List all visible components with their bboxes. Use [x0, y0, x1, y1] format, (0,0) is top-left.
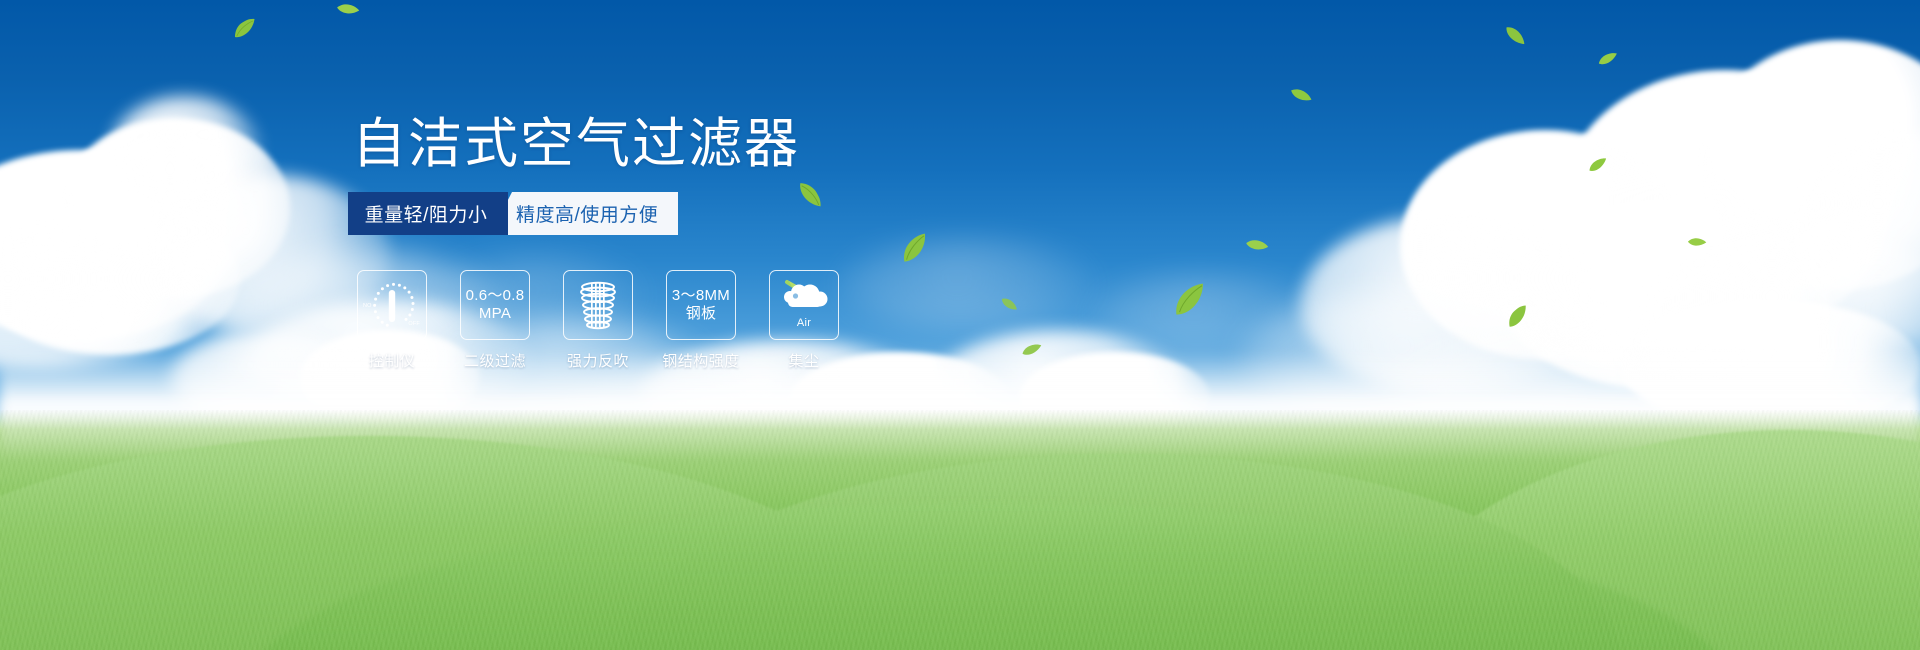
feature-label: 强力反吹: [567, 350, 629, 371]
feature-icon-box: Air: [769, 270, 839, 340]
dial-on-label: NO: [363, 303, 372, 309]
feature-label: 钢结构强度: [662, 350, 740, 371]
dial-off-label: OFF: [408, 321, 420, 327]
feature-icon-box: NO OFF: [357, 270, 427, 340]
feature-icon-box: 0.6～0.8 MPA: [460, 270, 530, 340]
feature-item-strong-backblow: 强力反吹: [562, 270, 634, 371]
feature-label: 控制仪: [369, 350, 416, 371]
feature-label: 二级过滤: [464, 350, 526, 371]
steel-thickness: 3～8MM: [672, 287, 730, 305]
feature-icon-box: [563, 270, 633, 340]
feature-item-steel-strength: 3～8MM 钢板 钢结构强度: [665, 270, 737, 371]
steel-plate-text: 钢板: [686, 305, 717, 323]
feature-list: NO OFF 控制仪 0.6～0.8 MPA 二级过滤: [356, 270, 840, 371]
control-dial-icon: NO OFF: [362, 276, 422, 334]
product-banner: 自洁式空气过滤器 重量轻/阻力小 精度高/使用方便: [0, 0, 1920, 650]
feature-item-dust-collection: Air 集尘: [768, 270, 840, 371]
pressure-unit: MPA: [479, 305, 511, 323]
air-label: Air: [797, 314, 811, 332]
feature-item-control-instrument: NO OFF 控制仪: [356, 270, 428, 371]
tag-lightweight-low-resistance: 重量轻/阻力小: [348, 192, 508, 235]
feature-item-secondary-filtration: 0.6～0.8 MPA 二级过滤: [459, 270, 531, 371]
feature-icon-box: 3～8MM 钢板: [666, 270, 736, 340]
pressure-value: 0.6～0.8: [466, 287, 525, 305]
feature-label: 集尘: [788, 350, 819, 371]
page-title: 自洁式空气过滤器: [352, 113, 800, 175]
backblow-coil-icon: [575, 280, 621, 330]
banner-content: 自洁式空气过滤器 重量轻/阻力小 精度高/使用方便: [0, 0, 1920, 650]
air-cloud-icon: [777, 279, 831, 313]
tag-group: 重量轻/阻力小 精度高/使用方便: [348, 192, 678, 235]
tag-high-precision-easy-use: 精度高/使用方便: [490, 192, 678, 235]
